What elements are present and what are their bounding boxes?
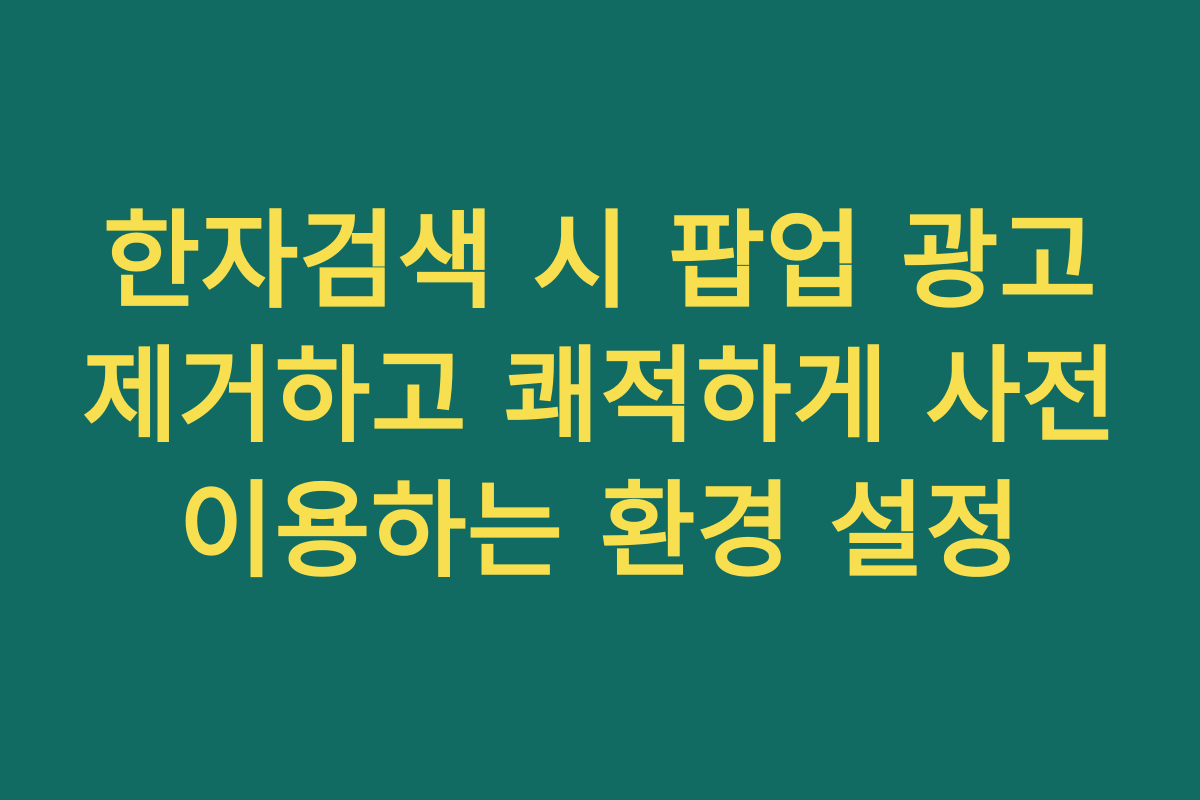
headline-line-3: 이용하는 환경 설정 (50, 464, 1150, 599)
headline-line-2: 제거하고 쾌적하게 사전 (50, 329, 1150, 464)
headline-line-1: 한자검색 시 팝업 광고 (50, 194, 1150, 329)
banner-canvas: 한자검색 시 팝업 광고 제거하고 쾌적하게 사전 이용하는 환경 설정 (0, 0, 1200, 800)
headline-block: 한자검색 시 팝업 광고 제거하고 쾌적하게 사전 이용하는 환경 설정 (50, 194, 1150, 599)
